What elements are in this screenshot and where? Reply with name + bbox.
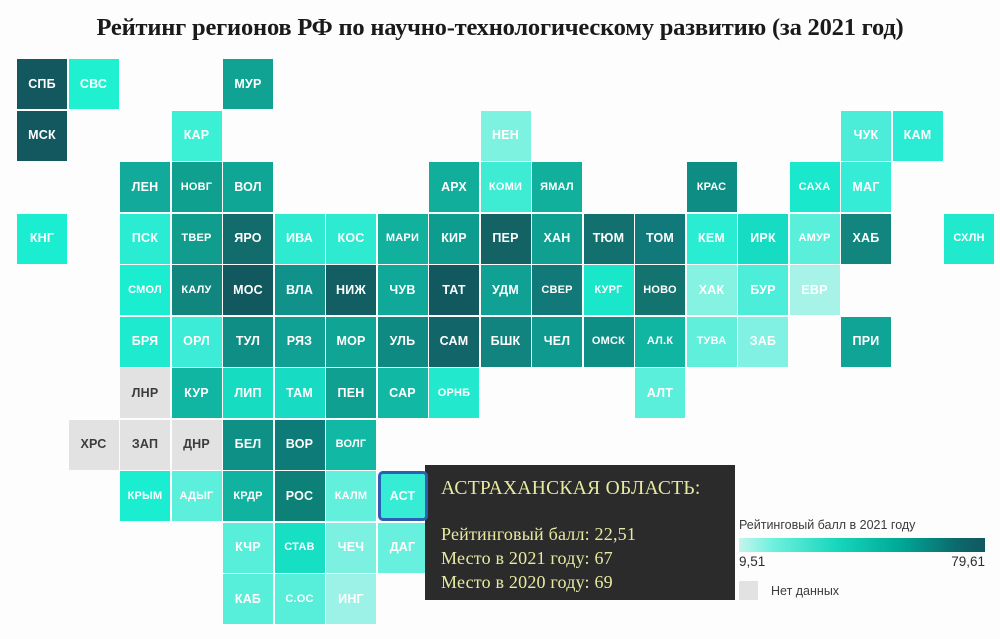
region-tile-label: ИРК — [750, 232, 776, 245]
region-tile-СВС[interactable]: СВС — [69, 59, 119, 109]
region-tile-ХАК[interactable]: ХАК — [687, 265, 737, 315]
region-tile-ЯМАЛ[interactable]: ЯМАЛ — [532, 162, 582, 212]
region-tile-label: МОС — [233, 284, 263, 297]
region-tile-МОС[interactable]: МОС — [223, 265, 273, 315]
region-tile-СВЕР[interactable]: СВЕР — [532, 265, 582, 315]
region-tile-label: КАЛМ — [335, 491, 367, 502]
region-tile-САХА[interactable]: САХА — [790, 162, 840, 212]
region-tile-label: КОМИ — [489, 182, 522, 193]
region-tile-label: КИР — [441, 232, 467, 245]
region-tile-label: КЕМ — [698, 232, 725, 245]
region-tile-КРДР[interactable]: КРДР — [223, 471, 273, 521]
region-tile-label: СПБ — [28, 78, 56, 91]
region-tile-ПЕР[interactable]: ПЕР — [481, 214, 531, 264]
region-tile-label: САМ — [440, 335, 469, 348]
region-tile-label: ПЕН — [338, 387, 365, 400]
region-tile-label: ИВА — [286, 232, 313, 245]
region-tile-КЕМ[interactable]: КЕМ — [687, 214, 737, 264]
infographic-root: Рейтинг регионов РФ по научно-технологич… — [0, 0, 1000, 639]
region-tile-label: АМУР — [798, 233, 830, 244]
region-tile-label: КРАС — [697, 182, 727, 193]
region-tile-ВОР[interactable]: ВОР — [275, 420, 325, 470]
region-tile-label: СХЛН — [953, 233, 984, 244]
region-tile-КНГ[interactable]: КНГ — [17, 214, 67, 264]
region-tile-ЛЕН[interactable]: ЛЕН — [120, 162, 170, 212]
region-tile-label: ТУЛ — [236, 335, 260, 348]
region-tile-label: ТАМ — [286, 387, 313, 400]
region-tile-label: ВЛА — [286, 284, 313, 297]
region-tile-label: СВС — [80, 78, 107, 91]
region-tile-label: САР — [389, 387, 416, 400]
region-tile-label: КРДР — [233, 491, 262, 502]
region-tile-ТУЛ[interactable]: ТУЛ — [223, 317, 273, 367]
region-tile-label: ВОЛ — [234, 181, 262, 194]
region-tile-ИВА[interactable]: ИВА — [275, 214, 325, 264]
region-tile-label: ИНГ — [338, 593, 364, 606]
region-tile-label: ПЕР — [492, 232, 518, 245]
region-tile-АЛТ[interactable]: АЛТ — [635, 368, 685, 418]
region-tile-label: БШК — [491, 335, 521, 348]
region-tile-ЧУВ[interactable]: ЧУВ — [378, 265, 428, 315]
region-tile-ТЮМ[interactable]: ТЮМ — [584, 214, 634, 264]
region-tile-label: НОВО — [643, 285, 677, 296]
region-tile-label: ПРИ — [853, 335, 880, 348]
region-tile-УДМ[interactable]: УДМ — [481, 265, 531, 315]
region-tile-БРЯ[interactable]: БРЯ — [120, 317, 170, 367]
region-tile-КРЫМ[interactable]: КРЫМ — [120, 471, 170, 521]
region-tile-label: СТАВ — [284, 542, 314, 553]
tooltip-score: Рейтинговый балл: 22,51 — [441, 522, 735, 546]
region-tile-КУРГ[interactable]: КУРГ — [584, 265, 634, 315]
region-tile-label: МУР — [234, 78, 261, 91]
region-tile-ИНГ[interactable]: ИНГ — [326, 574, 376, 624]
region-tile-АСТ[interactable]: АСТ — [378, 471, 428, 521]
region-tile-ВОЛ[interactable]: ВОЛ — [223, 162, 273, 212]
region-tile-АЛ.К[interactable]: АЛ.К — [635, 317, 685, 367]
region-tile-label: БЕЛ — [235, 438, 262, 451]
region-tile-label: АЛ.К — [647, 336, 673, 347]
region-tile-МАРИ[interactable]: МАРИ — [378, 214, 428, 264]
region-tile-СПБ[interactable]: СПБ — [17, 59, 67, 109]
region-tile-ДНР[interactable]: ДНР — [172, 420, 222, 470]
region-tile-label: РЯЗ — [287, 335, 312, 348]
region-tile-label: НИЖ — [336, 284, 366, 297]
legend-nodata-label: Нет данных — [771, 584, 839, 598]
region-tile-label: БРЯ — [132, 335, 159, 348]
region-tile-label: ХАК — [699, 284, 725, 297]
region-tile-ЧЕЛ[interactable]: ЧЕЛ — [532, 317, 582, 367]
region-tile-ИРК[interactable]: ИРК — [738, 214, 788, 264]
region-tile-ЕВР[interactable]: ЕВР — [790, 265, 840, 315]
region-tile-label: КУРГ — [594, 285, 622, 296]
region-tile-label: ВОЛГ — [336, 439, 367, 450]
region-tile-label: КРЫМ — [128, 491, 163, 502]
region-tile-АДЫГ[interactable]: АДЫГ — [172, 471, 222, 521]
region-tile-label: ЧУВ — [389, 284, 415, 297]
region-tile-НЕН[interactable]: НЕН — [481, 111, 531, 161]
region-tile-label: С.ОС — [285, 594, 313, 605]
region-tile-САМ[interactable]: САМ — [429, 317, 479, 367]
region-tile-ВОЛГ[interactable]: ВОЛГ — [326, 420, 376, 470]
region-tile-label: МАРИ — [386, 233, 419, 244]
region-tile-label: БУР — [750, 284, 775, 297]
region-tile-label: АРХ — [441, 181, 467, 194]
region-tile-КИР[interactable]: КИР — [429, 214, 479, 264]
region-tile-ЛНР[interactable]: ЛНР — [120, 368, 170, 418]
region-tile-label: ЧЕЛ — [544, 335, 571, 348]
region-tile-label: САХА — [799, 182, 831, 193]
region-tooltip: АСТРАХАНСКАЯ ОБЛАСТЬ: Рейтинговый балл: … — [425, 465, 735, 600]
region-tile-label: КНГ — [30, 232, 54, 245]
region-tile-МАГ[interactable]: МАГ — [841, 162, 891, 212]
region-tile-ЯРО[interactable]: ЯРО — [223, 214, 273, 264]
region-tile-label: МСК — [28, 129, 56, 142]
region-tile-ОРНБ[interactable]: ОРНБ — [429, 368, 479, 418]
region-tile-СМОЛ[interactable]: СМОЛ — [120, 265, 170, 315]
region-tile-label: НОВГ — [181, 182, 212, 193]
region-tile-label: ХАН — [544, 232, 571, 245]
region-tile-ОМСК[interactable]: ОМСК — [584, 317, 634, 367]
region-tile-label: ТОМ — [646, 232, 674, 245]
legend-nodata-swatch — [739, 581, 758, 600]
region-tile-ДАГ[interactable]: ДАГ — [378, 523, 428, 573]
region-tile-label: ТВЕР — [181, 233, 211, 244]
region-tile-label: ЧУК — [854, 129, 879, 142]
legend-gradient-bar — [739, 538, 985, 552]
region-tile-label: ЛЕН — [132, 181, 159, 194]
region-tile-ЧЕЧ[interactable]: ЧЕЧ — [326, 523, 376, 573]
region-tile-label: СМОЛ — [128, 285, 162, 296]
region-tile-label: ТАТ — [442, 284, 466, 297]
region-tile-НОВГ[interactable]: НОВГ — [172, 162, 222, 212]
region-tile-СТАВ[interactable]: СТАВ — [275, 523, 325, 573]
region-tile-НИЖ[interactable]: НИЖ — [326, 265, 376, 315]
legend-min-value: 9,51 — [739, 554, 765, 569]
region-tile-label: КАР — [184, 129, 210, 142]
region-tile-БУР[interactable]: БУР — [738, 265, 788, 315]
region-tile-label: ДНР — [183, 438, 210, 451]
region-tile-ОРЛ[interactable]: ОРЛ — [172, 317, 222, 367]
tooltip-rank-2021: Место в 2021 году: 67 — [441, 546, 735, 570]
legend-title: Рейтинговый балл в 2021 году — [739, 518, 987, 532]
region-tile-label: ЗАБ — [750, 335, 776, 348]
region-tile-КОС[interactable]: КОС — [326, 214, 376, 264]
region-tile-МУР[interactable]: МУР — [223, 59, 273, 109]
region-tile-label: ДАГ — [390, 541, 416, 554]
region-tile-label: ПСК — [132, 232, 158, 245]
region-tile-label: АЛТ — [647, 387, 673, 400]
region-tile-ТВЕР[interactable]: ТВЕР — [172, 214, 222, 264]
region-tile-label: ЧЕЧ — [338, 541, 365, 554]
region-tile-КАМ[interactable]: КАМ — [893, 111, 943, 161]
region-tile-label: КУР — [184, 387, 209, 400]
region-tile-САР[interactable]: САР — [378, 368, 428, 418]
region-tile-РОС[interactable]: РОС — [275, 471, 325, 521]
region-tile-КЧР[interactable]: КЧР — [223, 523, 273, 573]
legend-nodata-row: Нет данных — [739, 581, 987, 600]
region-tile-ХАН[interactable]: ХАН — [532, 214, 582, 264]
region-tile-ТАМ[interactable]: ТАМ — [275, 368, 325, 418]
region-tile-label: ТЮМ — [593, 232, 625, 245]
region-tile-МСК[interactable]: МСК — [17, 111, 67, 161]
region-tile-label: ТУВА — [697, 336, 727, 347]
region-tile-label: ЛНР — [132, 387, 159, 400]
region-tile-ХРС[interactable]: ХРС — [69, 420, 119, 470]
region-tile-label: КАМ — [904, 129, 932, 142]
region-tile-label: ЛИП — [234, 387, 261, 400]
region-tile-ТУВА[interactable]: ТУВА — [687, 317, 737, 367]
region-tile-label: ВОР — [286, 438, 313, 451]
region-tile-ВЛА[interactable]: ВЛА — [275, 265, 325, 315]
region-tile-ЧУК[interactable]: ЧУК — [841, 111, 891, 161]
region-tile-label: ЕВР — [801, 284, 827, 297]
region-tile-label: ХАБ — [853, 232, 880, 245]
region-tile-БЕЛ[interactable]: БЕЛ — [223, 420, 273, 470]
region-tile-label: СВЕР — [541, 285, 572, 296]
region-tile-КАР[interactable]: КАР — [172, 111, 222, 161]
region-tile-label: КАБ — [235, 593, 261, 606]
region-tile-ТОМ[interactable]: ТОМ — [635, 214, 685, 264]
region-tile-label: ОРНБ — [438, 388, 471, 399]
legend-max-value: 79,61 — [951, 554, 985, 569]
region-tile-ПЕН[interactable]: ПЕН — [326, 368, 376, 418]
region-tile-ПРИ[interactable]: ПРИ — [841, 317, 891, 367]
region-tile-label: ЯМАЛ — [540, 182, 574, 193]
region-tile-АМУР[interactable]: АМУР — [790, 214, 840, 264]
region-tile-label: КОС — [338, 232, 365, 245]
region-tile-ТАТ[interactable]: ТАТ — [429, 265, 479, 315]
region-tile-label: ОРЛ — [183, 335, 210, 348]
region-tile-СХЛН[interactable]: СХЛН — [944, 214, 994, 264]
region-tile-КРАС[interactable]: КРАС — [687, 162, 737, 212]
region-tile-label: ЯРО — [234, 232, 261, 245]
region-tile-label: АДЫГ — [180, 491, 214, 502]
region-tile-КУР[interactable]: КУР — [172, 368, 222, 418]
region-tile-АРХ[interactable]: АРХ — [429, 162, 479, 212]
region-tile-label: УЛЬ — [390, 335, 416, 348]
tooltip-region-title: АСТРАХАНСКАЯ ОБЛАСТЬ: — [441, 478, 735, 500]
region-tile-БШК[interactable]: БШК — [481, 317, 531, 367]
region-tile-ЗАП[interactable]: ЗАП — [120, 420, 170, 470]
region-tile-label: КАЛУ — [181, 285, 211, 296]
region-tile-label: НЕН — [492, 129, 519, 142]
region-tile-КОМИ[interactable]: КОМИ — [481, 162, 531, 212]
tooltip-rank-2020: Место в 2020 году: 69 — [441, 570, 735, 594]
region-tile-label: ОМСК — [592, 336, 625, 347]
region-tile-МОР[interactable]: МОР — [326, 317, 376, 367]
region-tile-label: УДМ — [492, 284, 519, 297]
region-tile-ХАБ[interactable]: ХАБ — [841, 214, 891, 264]
region-tile-label: ХРС — [81, 438, 107, 451]
region-tile-С.ОС[interactable]: С.ОС — [275, 574, 325, 624]
region-tile-ЛИП[interactable]: ЛИП — [223, 368, 273, 418]
legend-scale: 9,51 79,61 — [739, 554, 985, 569]
region-tile-НОВО[interactable]: НОВО — [635, 265, 685, 315]
region-tile-УЛЬ[interactable]: УЛЬ — [378, 317, 428, 367]
region-tile-ЗАБ[interactable]: ЗАБ — [738, 317, 788, 367]
region-tile-КАЛУ[interactable]: КАЛУ — [172, 265, 222, 315]
region-tile-label: МОР — [336, 335, 365, 348]
region-tile-КАБ[interactable]: КАБ — [223, 574, 273, 624]
region-tile-label: АСТ — [390, 490, 416, 503]
region-tile-label: ЗАП — [132, 438, 158, 451]
region-tile-РЯЗ[interactable]: РЯЗ — [275, 317, 325, 367]
region-tile-label: РОС — [286, 490, 314, 503]
region-tile-ПСК[interactable]: ПСК — [120, 214, 170, 264]
region-tile-label: КЧР — [235, 541, 261, 554]
region-tile-КАЛМ[interactable]: КАЛМ — [326, 471, 376, 521]
region-tile-label: МАГ — [852, 181, 879, 194]
color-legend: Рейтинговый балл в 2021 году 9,51 79,61 … — [739, 518, 987, 600]
